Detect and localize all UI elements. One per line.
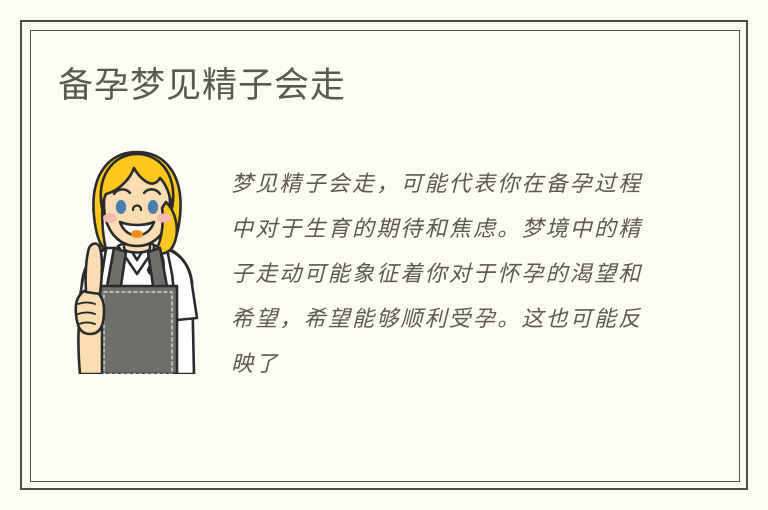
page-title: 备孕梦见精子会走 [58,62,346,110]
article-body-text: 梦见精子会走，可能代表你在备孕过程中对于生育的期待和焦虑。梦境中的精子走动可能象… [231,162,651,387]
index-finger [86,244,102,295]
apron-body [99,286,177,374]
cartoon-woman-illustration [62,142,212,374]
cheek-right [157,213,171,222]
eye-right [148,200,158,214]
article-page: 备孕梦见精子会走 [0,0,768,510]
tongue [131,230,143,238]
eye-left [116,200,126,214]
cheek-left [103,213,117,222]
